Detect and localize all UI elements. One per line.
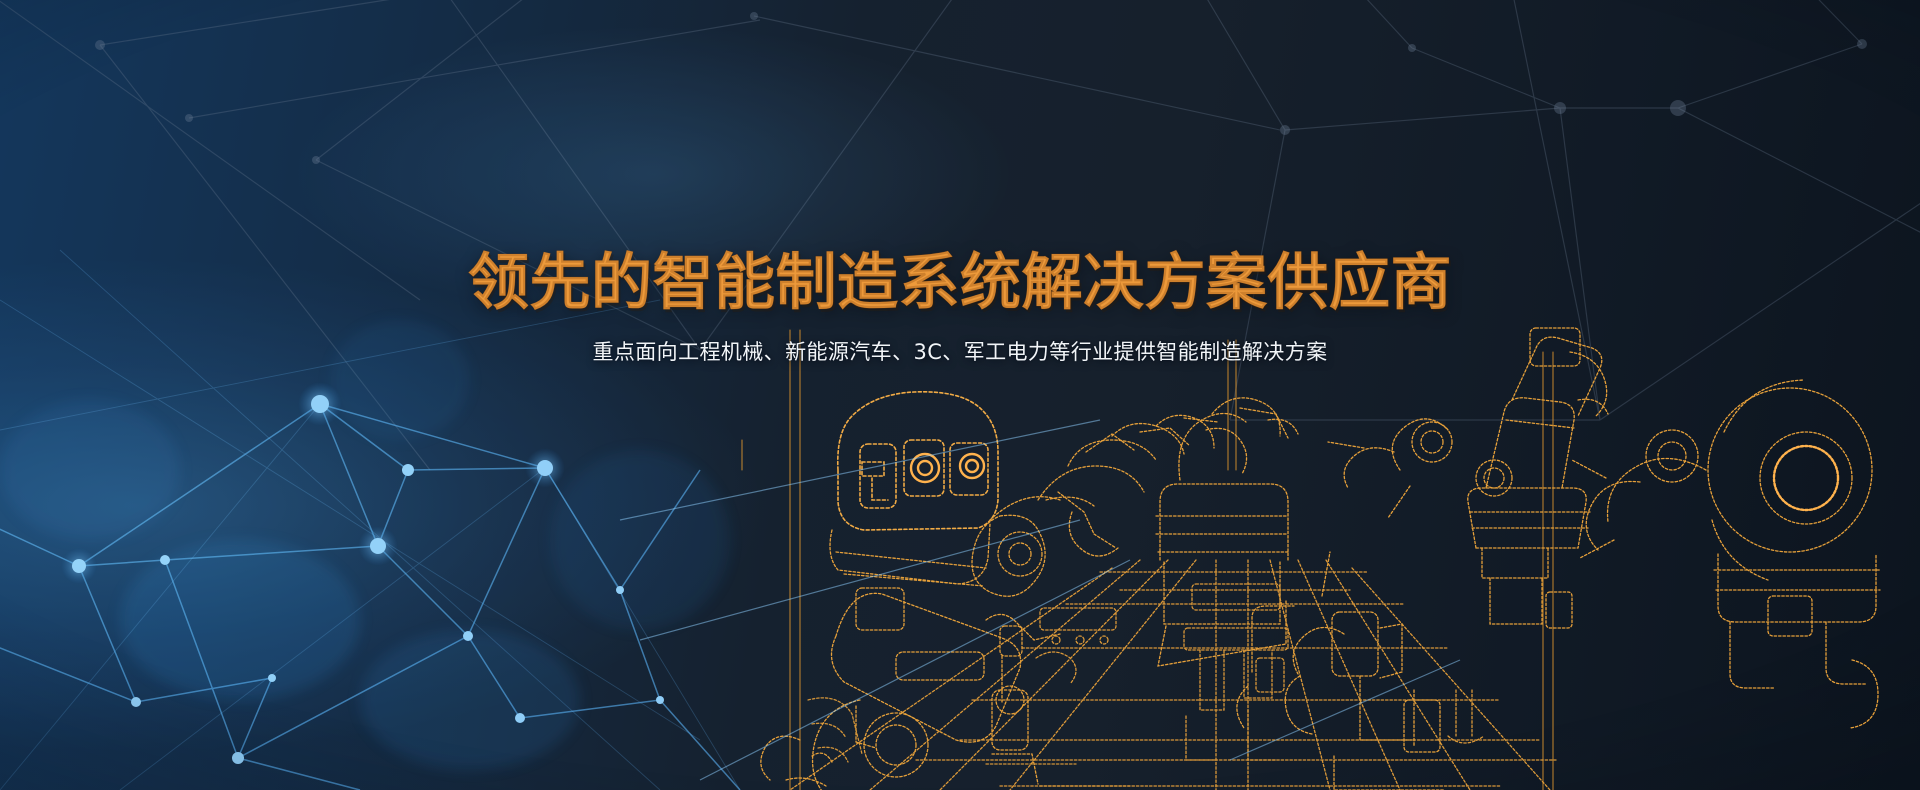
robot-arm-right: [1328, 328, 1608, 628]
hero-text-block: 领先的智能制造系统解决方案供应商 重点面向工程机械、新能源汽车、3C、军工电力等…: [0, 252, 1920, 366]
hero-subheadline: 重点面向工程机械、新能源汽车、3C、军工电力等行业提供智能制造解决方案: [0, 313, 1920, 366]
robot-far-right: [1572, 380, 1880, 728]
robot-welder-midright: [1237, 552, 1444, 790]
hero-banner: 领先的智能制造系统解决方案供应商 重点面向工程机械、新能源汽车、3C、军工电力等…: [0, 0, 1920, 790]
hero-headline: 领先的智能制造系统解决方案供应商: [0, 252, 1920, 313]
robot-arm-center: [1038, 415, 1247, 556]
robot-left: [761, 392, 1094, 790]
robot-pedestal-1: [1156, 398, 1298, 666]
robot-line-art-illustration: [0, 0, 1920, 790]
